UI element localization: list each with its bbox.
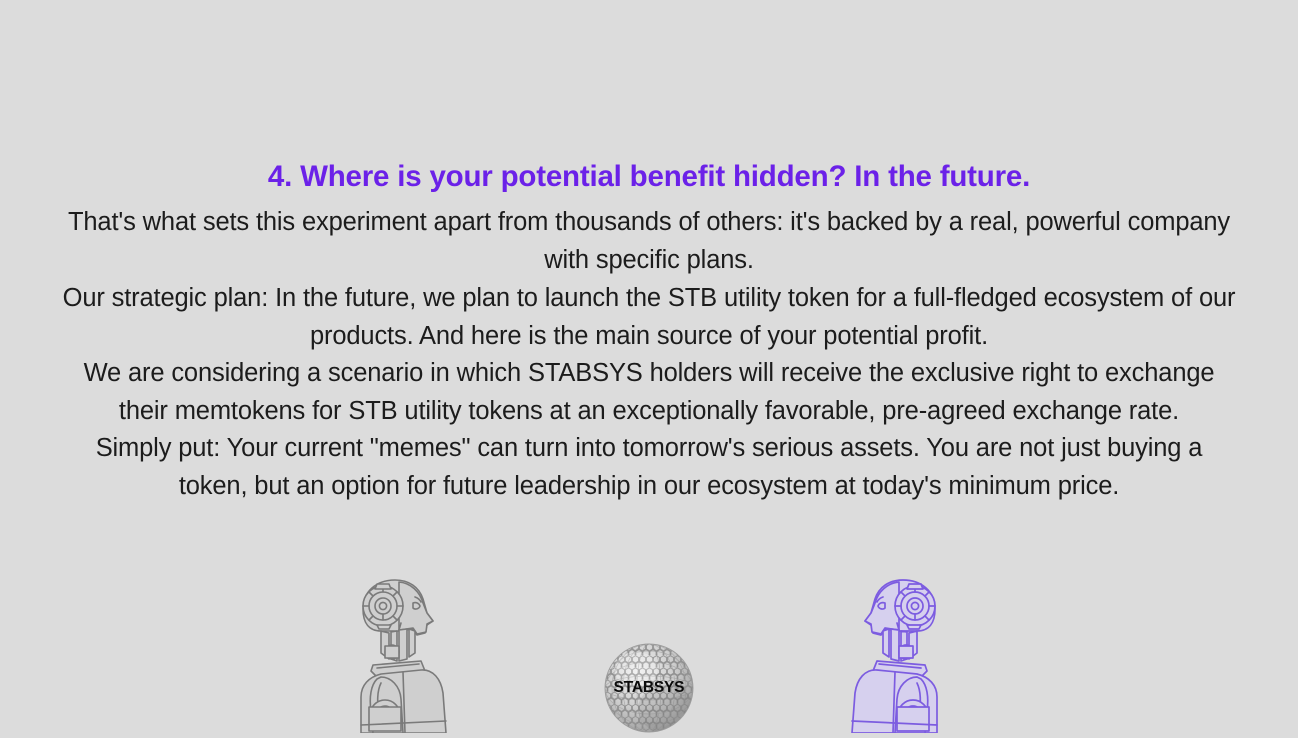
stabsys-logo-text: STABSYS	[604, 643, 694, 733]
robot-bust-purple-icon	[851, 573, 951, 733]
paragraph-1: That's what sets this experiment apart f…	[0, 203, 1298, 279]
paragraph-4: Simply put: Your current "memes" can tur…	[0, 429, 1298, 505]
robot-bust-gray-icon	[347, 573, 447, 733]
stabsys-logo: STABSYS	[604, 643, 694, 733]
slide-root: 4. Where is your potential benefit hidde…	[0, 0, 1298, 730]
page-title: 4. Where is your potential benefit hidde…	[0, 158, 1298, 196]
paragraph-2: Our strategic plan: In the future, we pl…	[0, 279, 1298, 355]
paragraph-3: We are considering a scenario in which S…	[0, 354, 1298, 430]
